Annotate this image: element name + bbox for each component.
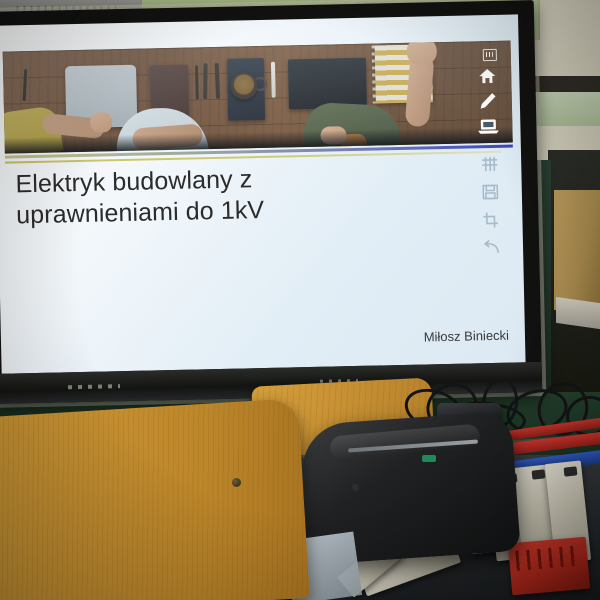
- pen-icon[interactable]: [478, 91, 498, 111]
- bag-tag: [422, 455, 436, 462]
- home-icon[interactable]: [477, 67, 497, 85]
- breaker-lever-4[interactable]: [564, 466, 578, 476]
- slide-hero-photo: [3, 41, 513, 154]
- wall-display[interactable]: Elektryk budowlany z uprawnieniami do 1k…: [0, 0, 542, 404]
- laptop-icon[interactable]: [477, 117, 499, 135]
- breaker-lever-3[interactable]: [532, 469, 546, 479]
- grid-icon[interactable]: [479, 155, 499, 173]
- display-screen[interactable]: Elektryk budowlany z uprawnieniami do 1k…: [0, 14, 526, 373]
- slide-author: Miłosz Biniecki: [424, 328, 510, 345]
- bag-stud: [352, 484, 359, 491]
- chair-near: [0, 398, 310, 600]
- save-icon[interactable]: [480, 183, 500, 201]
- presentation-slide: Elektryk budowlany z uprawnieniami do 1k…: [0, 14, 526, 373]
- app-switcher-icon[interactable]: [483, 49, 497, 61]
- slide-title: Elektryk budowlany z uprawnieniami do 1k…: [15, 161, 416, 231]
- crop-icon[interactable]: [480, 211, 500, 229]
- chair-near-grain: [0, 398, 310, 600]
- chair-screw: [232, 478, 241, 487]
- undo-icon[interactable]: [481, 239, 501, 257]
- cabinet-wood-panel: [554, 190, 600, 310]
- screenshot-root: Elektryk budowlany z uprawnieniami do 1k…: [0, 0, 600, 600]
- display-controls[interactable]: [68, 384, 120, 389]
